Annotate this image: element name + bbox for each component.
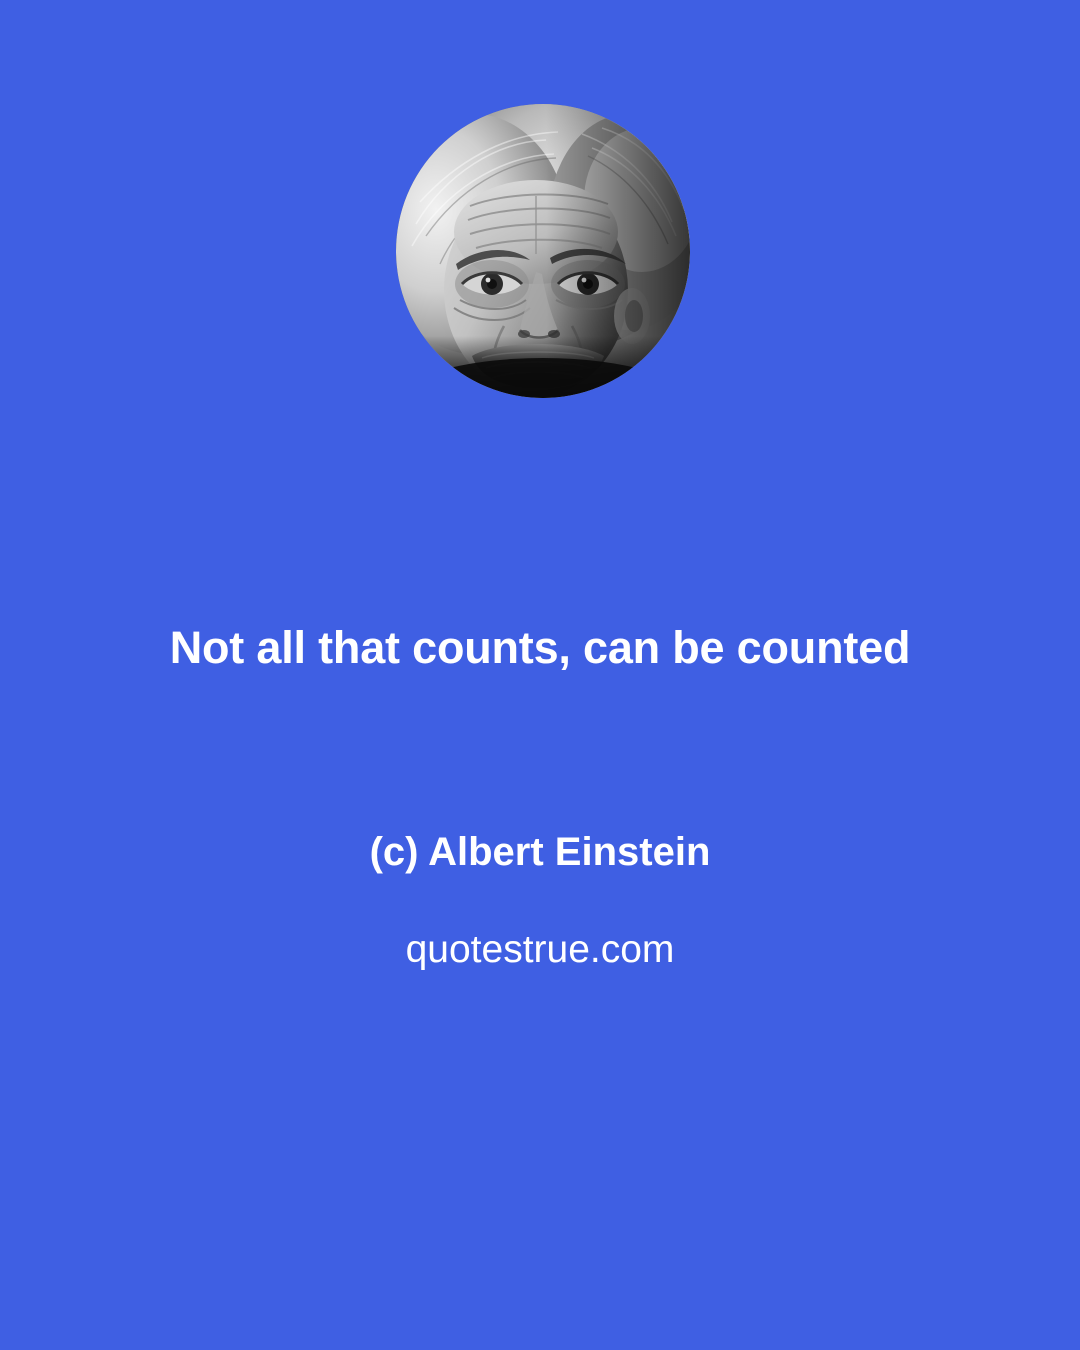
website-label: quotestrue.com	[0, 925, 1080, 975]
quote-card: Not all that counts, can be counted (c) …	[0, 0, 1080, 1350]
portrait-container	[396, 104, 690, 398]
quote-text: Not all that counts, can be counted	[0, 619, 1080, 677]
albert-einstein-portrait-icon	[396, 104, 690, 398]
quote-attribution: (c) Albert Einstein	[0, 826, 1080, 878]
